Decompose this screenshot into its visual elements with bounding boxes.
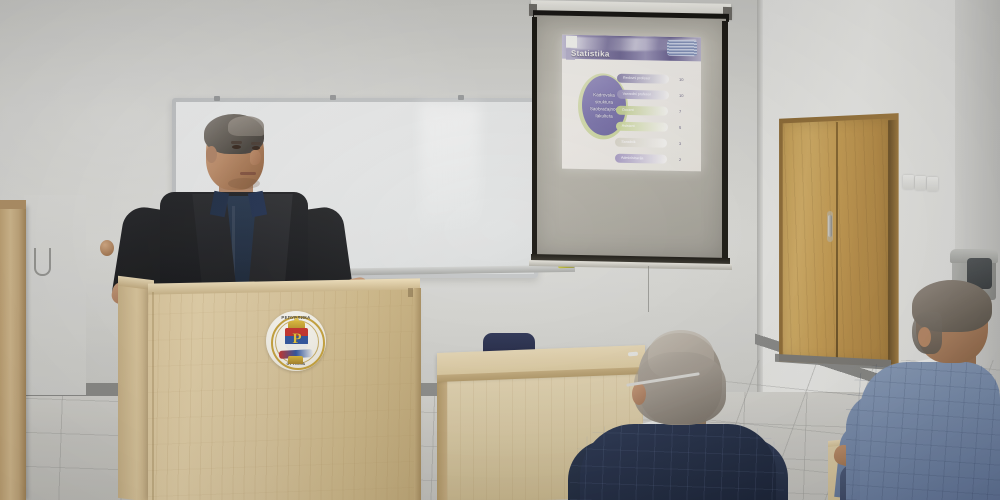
podium-seam — [152, 292, 154, 500]
left-wall-strip — [24, 195, 86, 395]
slide-row-label: Administracija — [621, 156, 643, 160]
light-switch-icon[interactable] — [915, 176, 926, 190]
attendee1-suit-pattern — [570, 424, 784, 500]
slide-row: Administracija — [615, 154, 667, 164]
attendee2-suit-pattern — [846, 362, 1000, 500]
door-handle-icon[interactable] — [828, 215, 832, 237]
speaker-eye-left — [232, 145, 241, 149]
slide-row: Docent — [616, 106, 668, 116]
slide-row-value: 7 — [679, 109, 681, 114]
slide-row-label: Docent — [622, 108, 633, 112]
light-switch-icon[interactable] — [903, 175, 914, 189]
speaker-nose — [250, 150, 261, 165]
slide-header-block — [566, 36, 577, 48]
speaker-hair-highlight — [228, 116, 264, 136]
podium-right-edge — [414, 288, 421, 500]
conference-room-photo: Statistika Kadrovska struktura Saobraćaj… — [0, 0, 1000, 500]
speaker-eyebrow-left — [231, 141, 242, 144]
speaker-mouth — [240, 172, 256, 175]
screen-border-left — [532, 17, 537, 261]
slide-row: Vanredni profesor — [617, 90, 669, 100]
attendee1-ear — [632, 383, 646, 405]
door-knob-icon[interactable] — [100, 240, 114, 256]
slide-row: Saradnik — [615, 138, 667, 148]
slide-row: Asistent — [616, 122, 668, 132]
screen-pull-cord[interactable] — [648, 266, 649, 312]
podium-side-panel — [118, 281, 152, 500]
emblem-monogram: P — [289, 329, 305, 349]
cabinet-edge — [0, 206, 26, 500]
whiteboard-glare — [420, 104, 480, 234]
whiteboard-clip — [330, 95, 336, 100]
slide-row-value: 2 — [679, 157, 681, 162]
slide-row-label: Asistent — [622, 124, 635, 128]
coat-hook-icon — [34, 248, 51, 276]
institution-logo-icon — [667, 40, 697, 57]
slide-title: Statistika — [571, 49, 610, 59]
whiteboard-clip — [214, 96, 220, 101]
slide-row-value: 10 — [679, 93, 683, 98]
projected-slide: Statistika Kadrovska struktura Saobraćaj… — [562, 35, 701, 172]
door-center-seam — [836, 122, 838, 360]
screen-border-right — [722, 21, 728, 263]
slide-row-value: 5 — [679, 125, 681, 130]
slide-row-value: 10 — [679, 77, 683, 82]
slide-row-label: Redovni profesor — [623, 76, 650, 81]
light-switch-icon[interactable] — [927, 177, 938, 191]
attendee2-ear — [918, 327, 931, 347]
desk-small-object — [628, 352, 638, 357]
attendee1-hair — [634, 352, 726, 424]
whiteboard-clip — [458, 95, 464, 100]
slide-row-label: Vanredni profesor — [623, 92, 651, 97]
door-recess-shadow — [888, 120, 898, 364]
slide-row: Redovni profesor — [617, 74, 669, 84]
slide-row-label: Saradnik — [621, 140, 635, 144]
slide-row-value: 3 — [679, 141, 681, 146]
speaker-eyebrow-right — [251, 142, 261, 145]
emblem-lower-crown — [288, 356, 303, 364]
cabinet-top — [0, 200, 26, 209]
speaker-ear — [206, 146, 217, 163]
speaker-chin-shadow — [228, 178, 260, 189]
podium-notch — [408, 288, 413, 297]
